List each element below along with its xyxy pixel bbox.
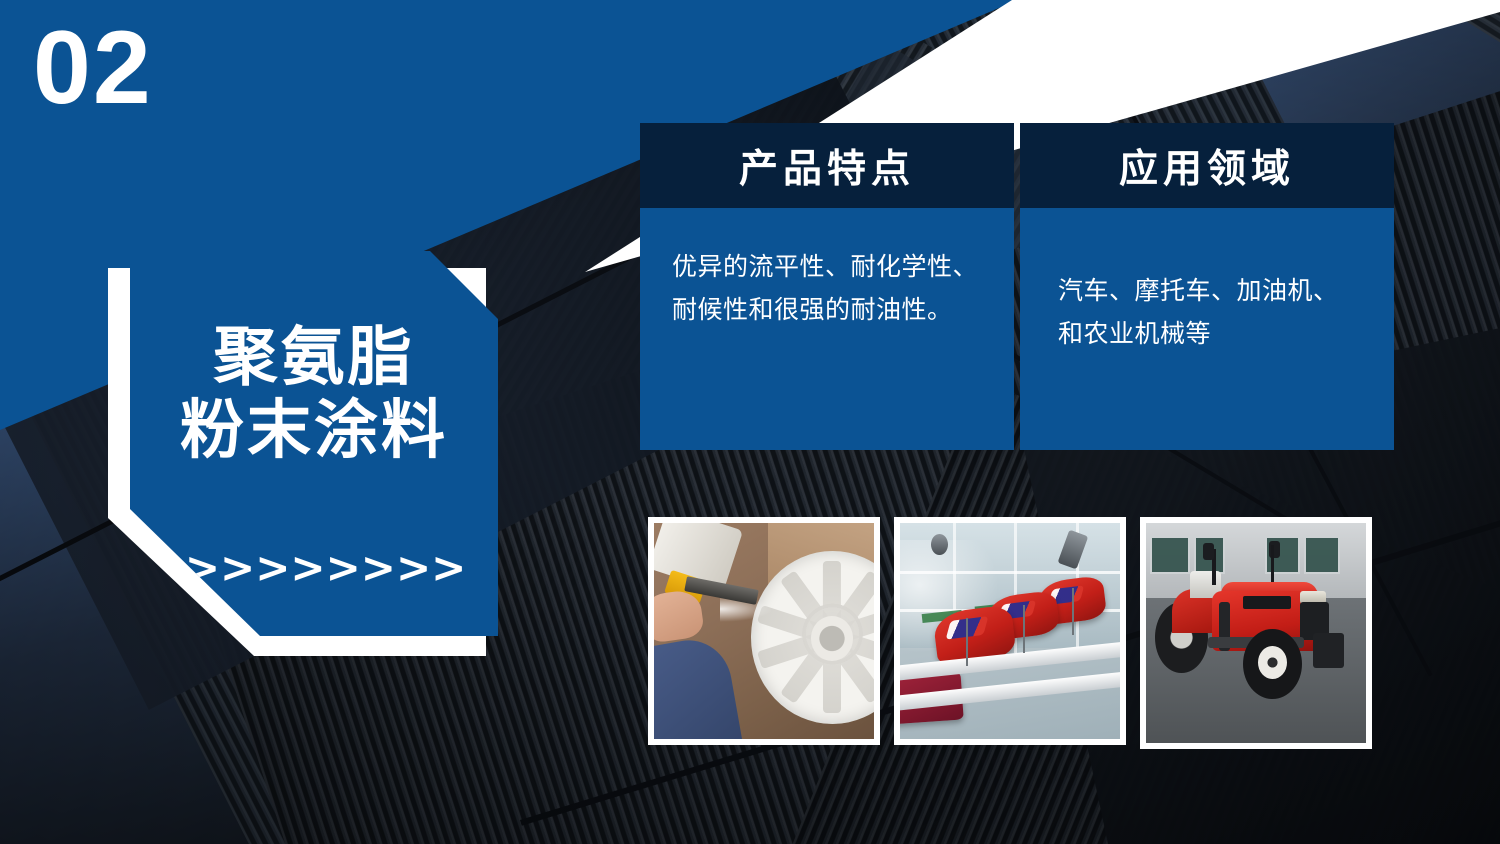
panel-application-areas-text: 汽车、摩托车、加油机、和农业机械等 xyxy=(1058,270,1362,356)
title-line-2: 粉末涂料 xyxy=(130,394,498,467)
panel-product-features-body: 优异的流平性、耐化学性、耐候性和很强的耐油性。 xyxy=(640,208,1014,450)
panel-product-features-heading: 产品特点 xyxy=(739,138,915,194)
tractor-photo-hitch xyxy=(1313,633,1344,668)
wheel-photo-spokes xyxy=(751,551,874,724)
tractor-photo-decal xyxy=(1243,596,1291,609)
photo-conveyor-tanks-image xyxy=(900,523,1120,739)
panel-application-areas-body: 汽车、摩托车、加油机、和农业机械等 xyxy=(1020,208,1394,450)
panel-product-features: 产品特点 优异的流平性、耐化学性、耐候性和很强的耐油性。 xyxy=(640,123,1014,450)
panel-application-areas-header: 应用领域 xyxy=(1020,123,1394,208)
photo-strip xyxy=(648,517,1372,749)
info-panel-group: 产品特点 优异的流平性、耐化学性、耐候性和很强的耐油性。 应用领域 汽车、摩托车… xyxy=(640,123,1394,450)
photo-conveyor-tanks xyxy=(894,517,1126,745)
slide-title: 聚氨脂 粉末涂料 xyxy=(130,321,498,467)
panel-application-areas-heading: 应用领域 xyxy=(1119,138,1295,194)
section-number: 02 xyxy=(33,16,153,120)
panel-product-features-header: 产品特点 xyxy=(640,123,1014,208)
tractor-photo-front-hub xyxy=(1258,646,1287,679)
wheel-photo-sleeve xyxy=(654,633,742,739)
photo-tractor-image xyxy=(1146,523,1366,743)
photo-wheel-coating xyxy=(648,517,880,745)
panel-product-features-text: 优异的流平性、耐化学性、耐候性和很强的耐油性。 xyxy=(672,246,982,332)
slide-canvas: 02 聚氨脂 粉末涂料 >>>>>>>>> 产品特点 优异的流平性、耐化学性、耐… xyxy=(0,0,1500,844)
photo-tractor xyxy=(1140,517,1372,749)
photo-wheel-coating-image xyxy=(654,523,874,739)
panel-application-areas: 应用领域 汽车、摩托车、加油机、和农业机械等 xyxy=(1020,123,1394,450)
title-line-1: 聚氨脂 xyxy=(130,321,498,394)
